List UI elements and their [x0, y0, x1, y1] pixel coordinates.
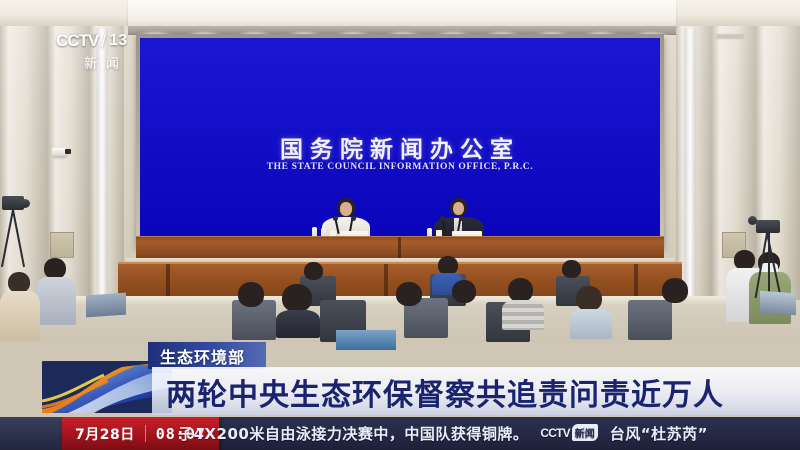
ceiling-fixture: [716, 34, 744, 39]
led-screen-surface: 国务院新闻办公室 THE STATE COUNCIL INFORMATION O…: [140, 38, 660, 244]
lower-third-kicker: 生态环境部: [148, 342, 266, 369]
broadcast-frame: 国务院新闻办公室 THE STATE COUNCIL INFORMATION O…: [0, 0, 800, 450]
lower-third-headline: 两轮中央生态环保督察共追责问责近万人: [152, 370, 724, 414]
ticker-divider: [145, 425, 146, 442]
broadcast-camera: [756, 220, 780, 233]
screen-headline-cn: 国务院新闻办公室: [140, 130, 660, 164]
ticker-news-label: 新闻: [572, 424, 598, 441]
microphone-head: [351, 216, 356, 221]
speaker-right-face: [453, 202, 464, 215]
tripod-leg: [768, 233, 770, 297]
cctv-wordmark: CCTV: [56, 31, 98, 51]
lower-third: 生态环境部 两轮中央生态环保督察共追责问责近万人: [0, 332, 800, 417]
channel-bug: CCTV / 13 新闻: [52, 30, 160, 76]
wall-vent: [50, 232, 74, 258]
press-laptop: [760, 291, 796, 316]
channel-bug-separator: /: [101, 31, 106, 52]
news-ticker: 7月28日 08:07 子4X200米自由泳接力决赛中，中国队获得铜牌。 CCT…: [0, 417, 800, 450]
stage-led-screen: 国务院新闻办公室 THE STATE COUNCIL INFORMATION O…: [136, 34, 664, 248]
microphone-head: [440, 216, 445, 221]
press-laptop: [86, 293, 126, 318]
microphone-head: [459, 216, 464, 221]
ceiling-soffit-inner: [128, 0, 676, 27]
channel-sub-label: 新闻: [52, 53, 160, 72]
ticker-date: 7月28日: [75, 424, 135, 444]
channel-number: 13: [109, 32, 127, 50]
channel-bug-row: CCTV / 13: [52, 30, 160, 52]
screen-headline-en: THE STATE COUNCIL INFORMATION OFFICE, P.…: [140, 162, 660, 172]
lower-third-headline-bar: 两轮中央生态环保督察共追责问责近万人: [152, 367, 800, 415]
ticker-cctv-news-bug: CCTV 新闻: [540, 424, 597, 441]
speaker-left-face: [340, 202, 352, 216]
ticker-headline-1: 子4X200米自由泳接力决赛中，中国队获得铜牌。: [178, 423, 528, 444]
ticker-cctv-wordmark: CCTV: [540, 426, 569, 440]
ticker-headline-2: 台风“杜苏芮”: [610, 423, 708, 444]
microphone-head: [333, 216, 338, 221]
ticker-scroll-text: 子4X200米自由泳接力决赛中，中国队获得铜牌。 CCTV 新闻 台风“杜苏芮”: [178, 417, 708, 450]
camera-lens-icon: [20, 199, 30, 208]
ticker-left-cap: [0, 417, 62, 450]
camera-lens-icon: [748, 216, 757, 225]
security-camera-icon: [52, 148, 66, 156]
